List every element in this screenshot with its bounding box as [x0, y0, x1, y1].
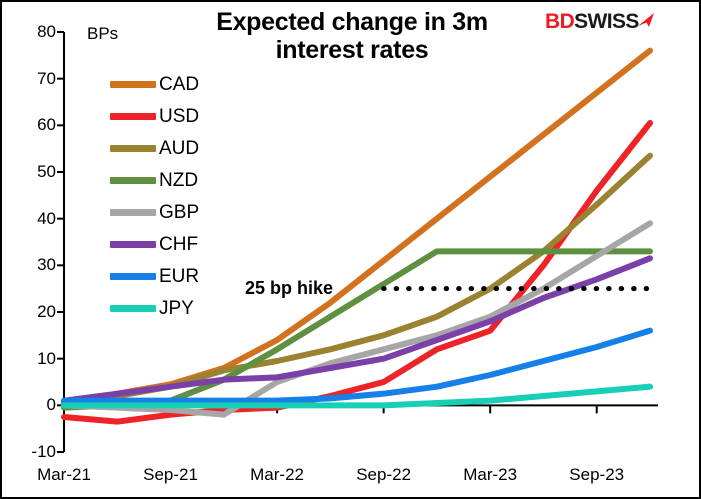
- y-axis-tick-value: 50: [37, 162, 56, 182]
- y-axis-tick-value: 80: [37, 22, 56, 42]
- legend-label: GBP: [159, 203, 199, 222]
- legend-item-cad[interactable]: CAD: [110, 68, 199, 100]
- logo-text-swiss: SWISS: [574, 10, 639, 34]
- y-axis-tick-value: 10: [37, 349, 56, 369]
- swoosh-arrow-icon: [636, 12, 656, 32]
- logo-text-bd: BD: [545, 10, 574, 34]
- page-title: Expected change in 3m interest rates: [172, 8, 532, 64]
- chart-legend: CADUSDAUDNZDGBPCHFEURJPY: [110, 68, 199, 324]
- legend-label: CHF: [159, 235, 198, 254]
- chart-plot-area: [2, 2, 701, 499]
- title-line-2: interest rates: [276, 36, 429, 64]
- legend-swatch-gbp: [110, 209, 156, 216]
- annotation-25bp-hike: 25 bp hike: [245, 278, 333, 299]
- legend-label: USD: [159, 107, 199, 126]
- legend-swatch-aud: [110, 145, 156, 152]
- legend-item-aud[interactable]: AUD: [110, 132, 199, 164]
- legend-item-eur[interactable]: EUR: [110, 260, 199, 292]
- x-axis-tick-label: Sep-23: [569, 465, 624, 485]
- y-axis-unit-label: BPs: [87, 24, 118, 44]
- brand-logo: BDSWISS: [545, 10, 656, 34]
- legend-swatch-jpy: [110, 305, 156, 312]
- y-axis-tick-value: 0: [47, 395, 56, 415]
- chart-frame: Expected change in 3m interest rates BDS…: [0, 0, 701, 499]
- legend-label: AUD: [159, 139, 199, 158]
- y-axis-tick-value: 40: [37, 209, 56, 229]
- legend-swatch-eur: [110, 273, 156, 280]
- x-axis-tick-label: Sep-22: [356, 465, 411, 485]
- y-axis-tick-value: 60: [37, 115, 56, 135]
- y-axis-tick-value: 20: [37, 302, 56, 322]
- legend-label: EUR: [159, 267, 199, 286]
- x-axis-tick-label: Mar-22: [250, 465, 304, 485]
- legend-item-usd[interactable]: USD: [110, 100, 199, 132]
- legend-swatch-usd: [110, 113, 156, 120]
- x-axis-tick-label: Mar-23: [463, 465, 517, 485]
- title-line-1: Expected change in 3m: [216, 8, 488, 36]
- legend-item-chf[interactable]: CHF: [110, 228, 199, 260]
- y-axis-tick-value: 30: [37, 255, 56, 275]
- legend-label: CAD: [159, 75, 199, 94]
- legend-label: NZD: [159, 171, 198, 190]
- legend-item-gbp[interactable]: GBP: [110, 196, 199, 228]
- legend-item-nzd[interactable]: NZD: [110, 164, 199, 196]
- legend-item-jpy[interactable]: JPY: [110, 292, 199, 324]
- x-axis-tick-label: Mar-21: [37, 465, 91, 485]
- legend-swatch-chf: [110, 241, 156, 248]
- x-axis-tick-label: Sep-21: [143, 465, 198, 485]
- y-axis-tick-value: 70: [37, 69, 56, 89]
- series-line-jpy: [64, 387, 650, 406]
- series-line-eur: [64, 331, 650, 401]
- legend-label: JPY: [159, 299, 194, 318]
- legend-swatch-nzd: [110, 177, 156, 184]
- legend-swatch-cad: [110, 81, 156, 88]
- y-axis-tick-value: -10: [31, 442, 56, 462]
